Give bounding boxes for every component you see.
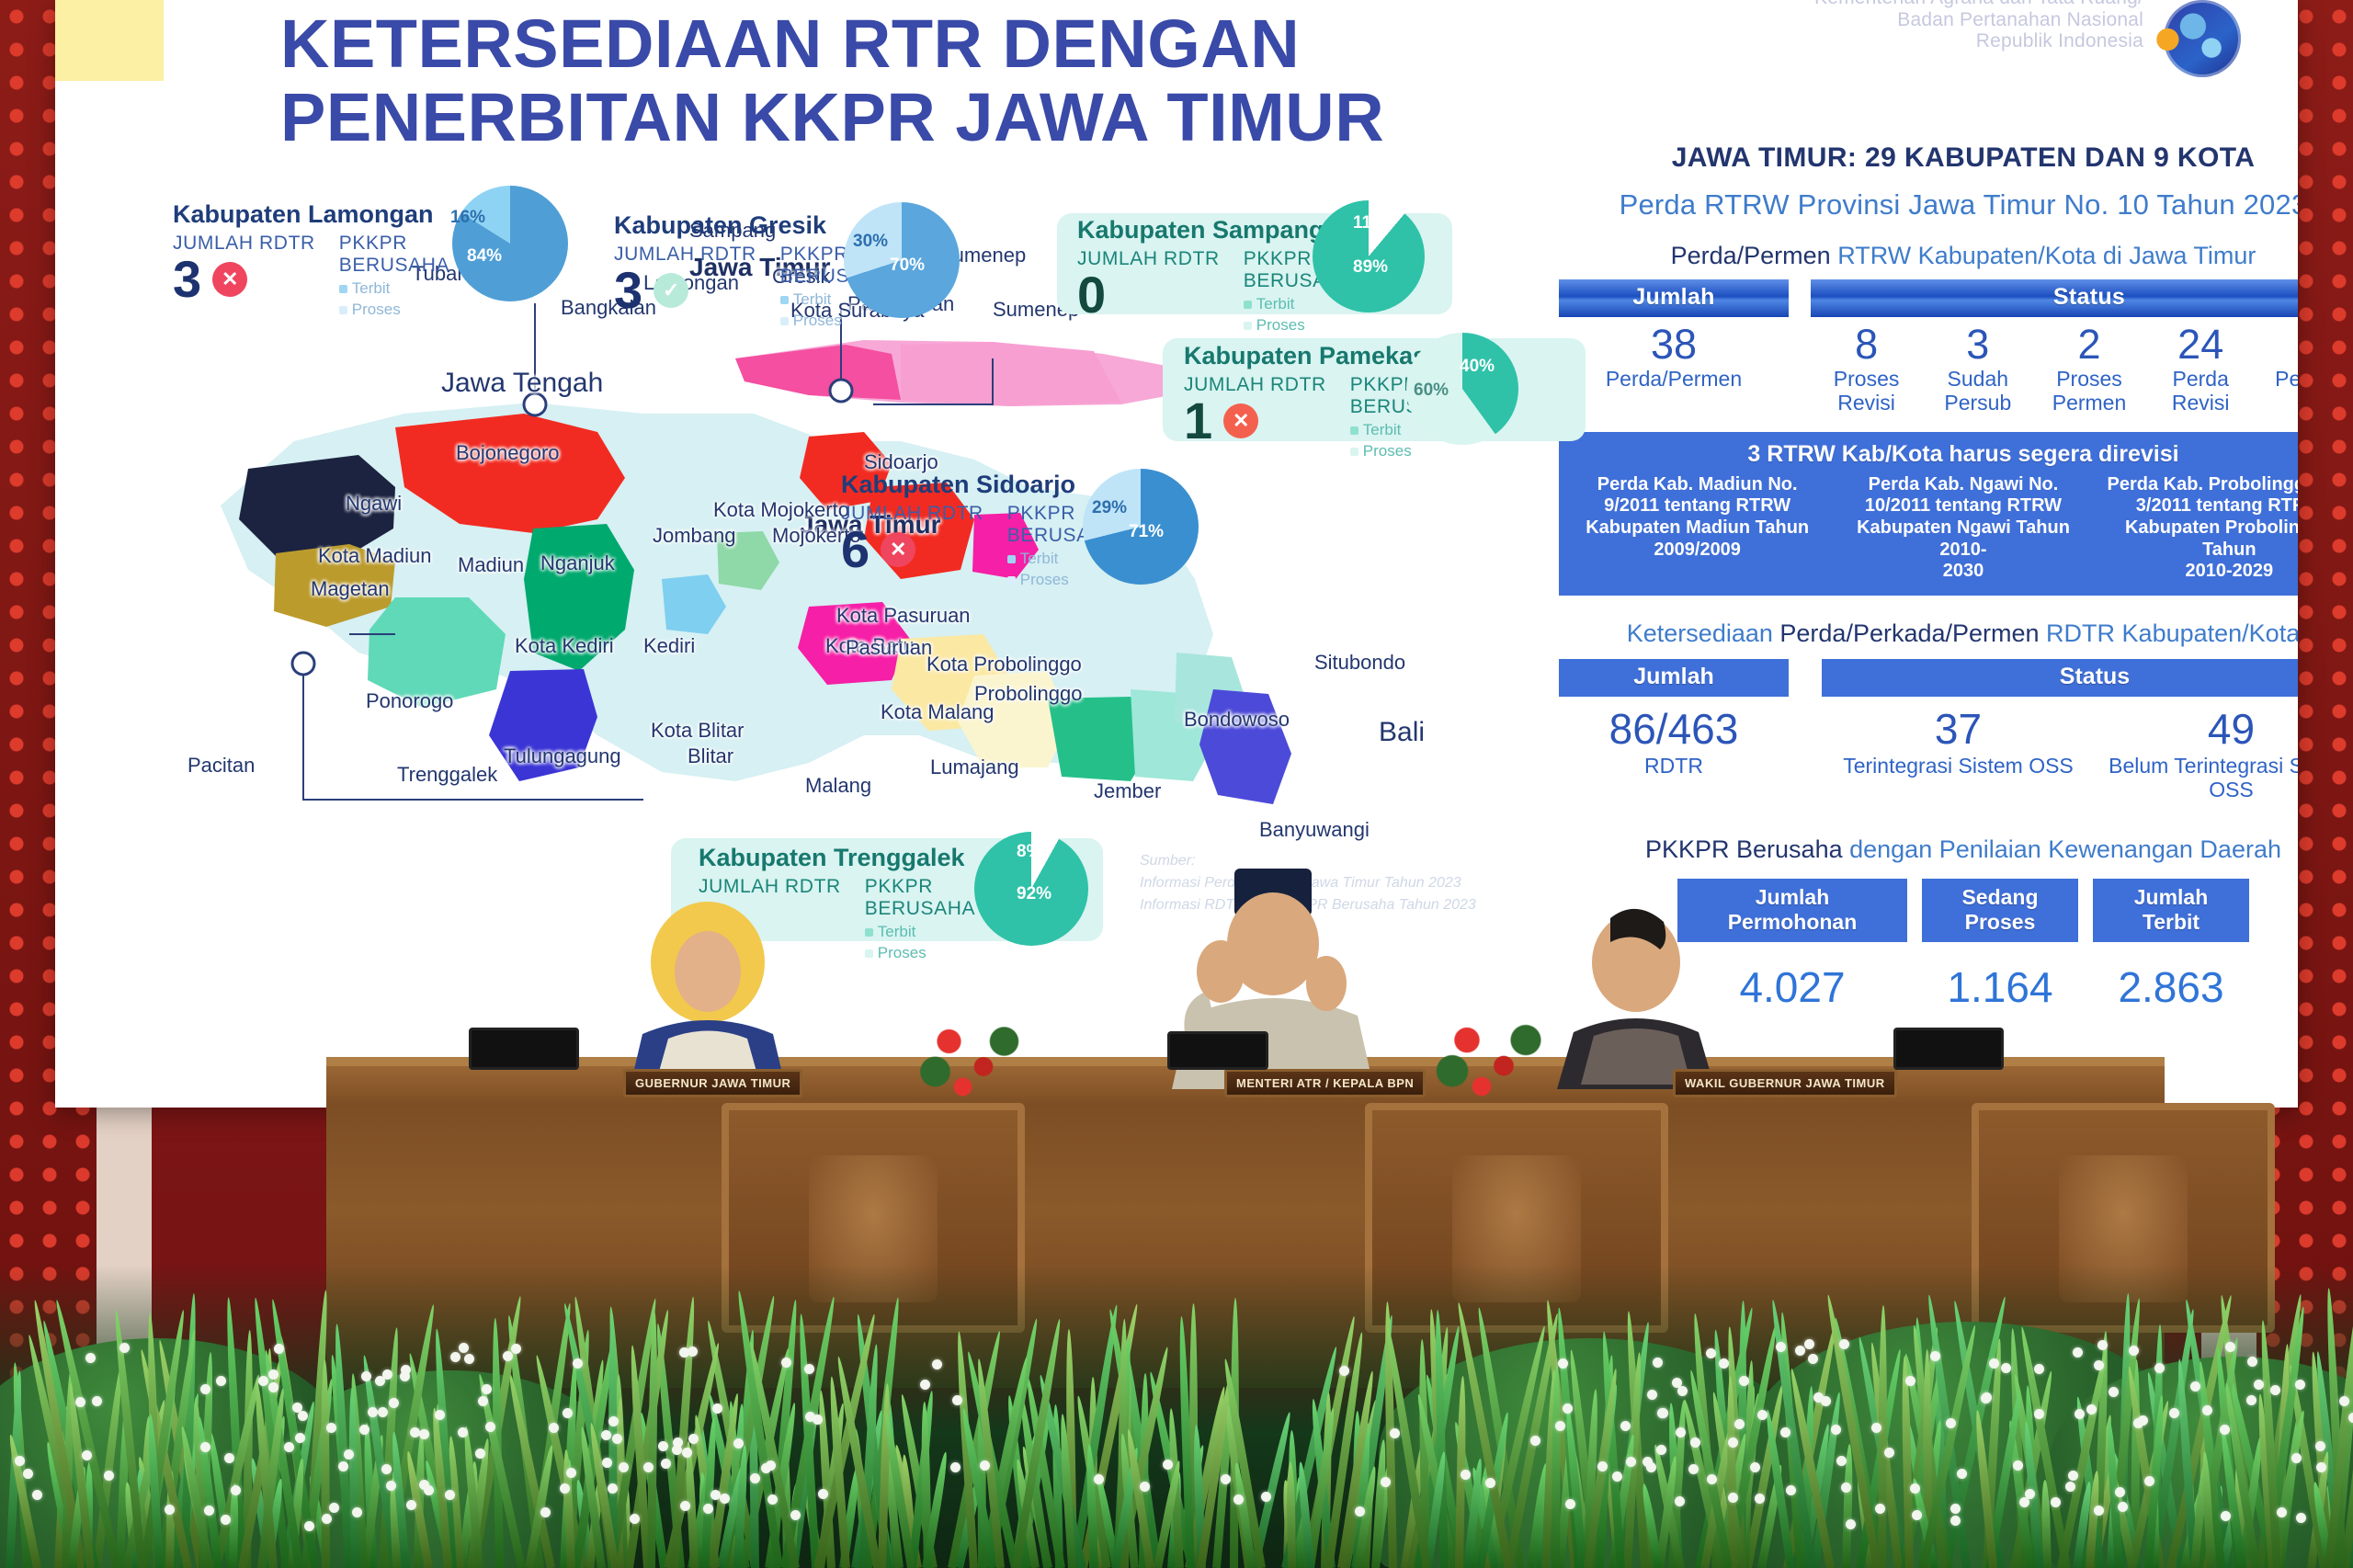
blossom [805,1412,815,1422]
revision-item-line3: Kabupaten Madiun Tahun [1586,517,1809,538]
revision-items: Perda Kab. Madiun No. 9/2011 tentang RTR… [1572,474,2298,583]
blossom [2277,1507,2287,1517]
blossom [2144,1476,2154,1486]
revision-item-line1: Perda Kab. Madiun No. [1597,474,1798,494]
statistics-panel: JAWA TIMUR: 29 KABUPATEN DAN 9 KOTA Perd… [1559,142,2298,1012]
rdtr-status-value: 49 [2095,704,2298,754]
blossom [368,1407,378,1417]
map-label-magetan: Magetan [311,577,390,601]
blossom [818,1489,828,1499]
blossom [1690,1437,1700,1448]
rtrw-status-item: 8 Proses Revisi [1811,323,1922,415]
legend-terbit: Terbit [793,290,832,308]
revision-item: Perda Kab. Probolinggo No. 3/2011 tentan… [2104,474,2298,583]
blossom [2097,1340,2108,1350]
blossom [1786,1485,1796,1495]
perda-rtrw-provinsi: Perda RTRW Provinsi Jawa Timur No. 10 Ta… [1559,188,2298,222]
blossom [1656,1445,1666,1455]
blossom [274,1344,284,1354]
blossom [424,1485,434,1495]
nameplate-menteri: MENTERI ATR / KEPALA BPN [1224,1069,1426,1097]
revision-item-line2: 10/2011 tentang RTRW [1865,495,2062,516]
legend-terbit: Terbit [1020,550,1059,567]
revision-item-line4: 2030 [1943,561,1984,581]
blossom [766,1460,776,1471]
blossom [322,1514,332,1524]
map-label-tulungagung: Tulungagung [504,744,621,768]
map-label-lumajang: Lumajang [930,756,1019,779]
blossom [1946,1418,1956,1428]
blossom [1677,1386,1688,1396]
blossom [658,1441,668,1451]
blossom [1563,1403,1573,1414]
map-label-kediri: Kediri [643,634,695,658]
pie-label-terbit-lamongan: 84% [467,246,502,267]
card-pkkpr-label-1: PKKPR [339,233,449,255]
blossom [672,1445,682,1455]
blossom [1261,1492,1271,1502]
blossom [304,1521,314,1531]
rdtr-status-value: 37 [1822,704,2095,754]
blossom [2094,1360,2104,1370]
header-status-rtrw: Status [1811,279,2298,317]
card-rdtr-value: 6 [841,525,870,574]
legend-proses: Proses [1363,442,1412,460]
map-label-trenggalek: Trenggalek [397,763,497,787]
rdtr-values-row: 86/463 RDTR 37 Terintegrasi Sistem OSS 4… [1559,704,2298,802]
card-title: Kabupaten Trenggalek [699,844,975,872]
rtrw-status-cells: 8 Proses Revisi 3 Sudah Persub 2 Proses … [1811,323,2298,415]
blossom [1734,1419,1745,1429]
card-body: JUMLAH RDTR 3 ✕ PKKPR BERUSAHA Terbit Pr… [173,233,449,321]
blossom [1094,1474,1104,1484]
blossom [2034,1364,2044,1374]
legend-terbit: Terbit [1363,421,1402,438]
section-rdtr-title: Ketersediaan Perda/Perkada/Permen RDTR K… [1559,619,2298,648]
blossom [450,1352,460,1362]
blossom [1739,1376,1749,1386]
rtrw-status-value: 24 [2145,323,2256,366]
blossom [2291,1453,2302,1463]
blossom [2254,1380,2264,1390]
rtrw-status-label: Proses Revisi [1811,368,1922,415]
blossom [1565,1499,1575,1509]
blossom [284,1442,294,1452]
rtrw-status-value: 1 [2256,323,2298,366]
map-label-malang: Malang [805,774,871,798]
rtrw-status-label: Permen [2256,368,2298,392]
map-label-ngawi: Ngawi [346,492,402,516]
pie-label-terbit-pamekasan: 40% [1460,357,1495,377]
blossom [338,1461,348,1471]
pie-label-terbit-trenggalek: 92% [1017,884,1051,904]
pie-label-proses-lamongan: 16% [450,208,485,228]
blossom [23,1469,33,1479]
blossom [231,1485,241,1495]
blossom [378,1407,388,1417]
map-label-jember: Jember [1094,779,1161,803]
person-governor [602,896,813,1089]
rtrw-status-item: 1 Permen [2256,323,2298,415]
blossom [32,1490,42,1500]
blossom [2348,1413,2353,1423]
map-label-blitar: Blitar [688,744,733,768]
section-pkkpr-title-a: PKKPR Berusaha [1645,835,1849,863]
card-rdtr-value: 0 [1077,270,1106,319]
blossom [419,1429,429,1439]
revision-item-line1: Perda Kab. Probolinggo No. [2108,474,2298,494]
rtrw-table-headers: Jumlah Status [1559,279,2298,317]
blossom [1846,1519,1856,1529]
blossom [712,1403,722,1414]
blossom [1950,1516,1961,1526]
pie-label-proses-pamekasan: 60% [1414,381,1449,401]
map-label-madiun: Madiun [458,553,524,577]
blossom [475,1449,485,1459]
blossom [1871,1423,1881,1433]
blossom [344,1449,354,1460]
blossom [1910,1483,1920,1494]
card-rdtr-block: JUMLAH RDTR 3 ✕ [173,233,315,303]
flower-arrangement-right [1415,1009,1563,1112]
blossom [1390,1428,1400,1438]
blossom [952,1395,962,1405]
ministry-line-1: Kementerian Agraria dan Tata Ruang/ [1814,0,2143,8]
blossom [359,1425,369,1435]
section-rdtr-title-a: Ketersediaan [1627,619,1780,647]
title-line-1: KETERSEDIAAN RTR DENGAN [280,7,1384,81]
blossom [661,1459,671,1469]
revision-item-line3: Kabupaten Probolinggo Tahun [2125,517,2298,560]
blossom [1804,1339,1814,1349]
desk-monitor-left [469,1028,579,1070]
blossom [1930,1351,1940,1361]
blossom [1841,1483,1851,1493]
blossom [1808,1354,1818,1364]
blossom [703,1504,713,1514]
card-title: Kabupaten Sidoarjo [841,471,1118,499]
blossom [2013,1460,2023,1471]
section-rtrw-title-b: RTRW Kabupaten/Kota di Jawa Timur [1837,242,2256,269]
blossom [382,1369,392,1380]
card-kabupaten-sampang: Kabupaten Sampang JUMLAH RDTR 0 PKKPR BE… [1077,216,1354,336]
pie-label-terbit-sampang: 89% [1353,257,1388,278]
rtrw-status-item: 3 Sudah Persub [1922,323,2033,415]
blossom [1795,1346,1805,1356]
blossom [563,1408,573,1418]
card-pie-legend: Terbit Proses [865,922,975,964]
legend-terbit: Terbit [878,923,916,940]
blossom [361,1371,371,1381]
blossom [2073,1347,2083,1358]
rtrw-status-label: Perda Revisi [2145,368,2256,415]
blossom [733,1438,744,1449]
blossom [608,1416,619,1426]
rtrw-status-value: 2 [2033,323,2144,366]
map-label-kota-mojokerto: Kota Mojokerto [713,498,849,522]
revision-item-line2: 3/2011 tentang RTRW [2136,495,2298,516]
section-rdtr-title-c: RDTR Kabupaten/Kota [2040,619,2298,647]
blossom [1750,1462,1760,1472]
blossom [295,1433,305,1443]
map-label-kota-madiun: Kota Madiun [318,544,432,568]
blossom [688,1434,699,1444]
blossom [720,1494,730,1504]
revision-item-line3: Kabupaten Ngawi Tahun 2010- [1857,517,2070,560]
blossom [2129,1346,2139,1356]
blossom [612,1434,622,1444]
blossom [1706,1348,1716,1358]
blossom [2169,1408,2179,1418]
revision-item-line4: 2009/2009 [1654,540,1741,560]
blossom [2001,1363,2011,1373]
blossom [1612,1471,1622,1482]
blossom [1688,1464,1699,1474]
x-circle-icon: ✕ [212,262,247,297]
legend-proses: Proses [878,944,926,961]
revision-box-title: 3 RTRW Kab/Kota harus segera direvisi [1572,441,2298,468]
blossom [630,1514,640,1524]
revision-item: Perda Kab. Madiun No. 9/2011 tentang RTR… [1572,474,1823,583]
blossom [932,1359,942,1369]
blossom [2315,1441,2325,1451]
blossom [2246,1395,2256,1405]
blossom [920,1380,930,1390]
blossom [1755,1494,1765,1504]
section-rtrw-title: Perda/Permen RTRW Kabupaten/Kota di Jawa… [1559,242,2298,270]
blossom [221,1515,231,1525]
check-circle-icon: ✓ [654,273,688,308]
blossom [329,1503,339,1513]
blossom [511,1344,521,1354]
blossom [1221,1474,1231,1484]
pie-label-terbit-gresik: 70% [890,256,925,276]
blossom [1672,1378,1682,1388]
blossom [326,1423,336,1433]
blossom [1676,1427,1686,1437]
card-rdtr-value-wrap: 1 ✕ [1184,396,1326,445]
blossom [464,1354,474,1364]
title-line-2: PENERBITAN KKPR JAWA TIMUR [280,81,1384,154]
card-pkkpr-label-2: BERUSAHA [865,898,975,920]
blossom [1461,1470,1471,1480]
blossom [258,1376,268,1386]
blossom [1163,1460,1173,1470]
blossom [2339,1396,2349,1406]
blossom [401,1365,411,1375]
blossom [204,1506,214,1516]
blossom [549,1423,559,1433]
map-label-pasuruan: Pasuruan [846,636,932,660]
card-pkkpr-label-2: BERUSAHA [339,255,449,277]
card-rdtr-value-wrap: 0 [1077,270,1220,319]
blossom [459,1343,469,1353]
yellow-accent-block [55,0,164,81]
map-label-probolinggo: Probolinggo [974,682,1082,706]
blossom [82,1450,92,1460]
pie-label-proses-sampang: 11% [1353,213,1387,233]
blossom [2118,1502,2128,1512]
x-circle-icon: ✕ [1223,403,1258,438]
blossom [1485,1478,1495,1488]
rdtr-status-label: Terintegrasi Sistem OSS [1822,754,2095,778]
map-label-kota-pasuruan: Kota Pasuruan [836,604,971,628]
card-body: JUMLAH RDTR 6 ✕ PKKPR BERUSAHA Terbit Pr… [841,503,1118,591]
map-label-kota-probolinggo: Kota Probolinggo [926,653,1082,676]
blossom [2051,1497,2061,1507]
blossom [980,1460,990,1471]
flower-arrangement-left [901,1011,1039,1112]
map-label-ponorogo: Ponorogo [366,689,453,713]
blossom [406,1500,416,1510]
blossom [2247,1357,2257,1367]
map-label-bondowoso: Bondowoso [1184,708,1290,732]
blossom [1381,1477,1391,1487]
blossom [1757,1410,1768,1420]
blossom [1646,1462,1656,1472]
blossom [298,1411,308,1421]
rdtr-status-item: 37 Terintegrasi Sistem OSS [1822,704,2095,802]
blossom [1776,1342,1786,1352]
blossom [485,1422,495,1432]
legend-terbit: Terbit [1256,295,1295,312]
revision-item: Perda Kab. Ngawi No. 10/2011 tentang RTR… [1837,474,2088,583]
grass-blade [1878,1305,1887,1568]
header-status-rdtr: Status [1822,659,2298,697]
ministry-header: Kementerian Agraria dan Tata Ruang/ Bada… [1814,0,2143,52]
blossom [119,1343,130,1353]
rtrw-status-item: 24 Perda Revisi [2145,323,2256,415]
card-rdtr-value: 3 [173,255,201,303]
blossom [216,1376,226,1386]
blossom [750,1473,760,1483]
card-rdtr-block: JUMLAH RDTR 3 ✓ [614,244,756,314]
card-rdtr-value-wrap: 3 ✓ [614,266,756,314]
grass-blade [1552,1366,1561,1568]
blossom [573,1358,583,1369]
revision-item-line2: 9/2011 tentang RTRW [1604,495,1790,516]
blossom [1957,1469,1967,1479]
legend-proses: Proses [352,301,401,318]
blossom [2221,1511,2231,1521]
map-label-jombang: Jombang [653,524,736,548]
map-label-bojonegoro: Bojonegoro [456,441,560,465]
pie-chart-lamongan [452,186,568,301]
blossom [352,1507,362,1517]
revision-item-line1: Perda Kab. Ngawi No. [1869,474,2059,494]
pie-label-proses-trenggalek: 8% [1017,842,1041,862]
blossom [2202,1405,2212,1415]
blossom [1831,1425,1841,1435]
rtrw-status-value: 3 [1922,323,2033,366]
blossom [1989,1358,1999,1369]
blossom [75,1397,85,1407]
blossom [200,1442,210,1452]
blossom [2068,1471,2078,1481]
map-label-kota-kediri: Kota Kediri [515,634,614,658]
blossom [1140,1482,1150,1492]
blossom [15,1456,25,1466]
blossom [1728,1493,1738,1503]
rdtr-table-headers: Jumlah Status [1559,659,2298,697]
card-rdtr-block: JUMLAH RDTR 1 ✕ [1184,374,1326,445]
card-pkkpr-block: PKKPR BERUSAHA Terbit Proses [865,876,975,964]
blossom [1981,1393,1991,1403]
foreground-plants [0,1265,2353,1568]
blossom [643,1462,654,1472]
card-rdtr-block: JUMLAH RDTR 6 ✕ [841,503,983,574]
blossom [200,1384,210,1394]
blossom [386,1481,396,1491]
blossom [2019,1497,2029,1507]
ministry-line-3: Republik Indonesia [1976,30,2143,51]
blossom [1558,1358,1568,1369]
blossom [2133,1418,2143,1428]
card-rdtr-value-wrap: 6 ✕ [841,525,983,574]
legend-proses: Proses [793,312,842,329]
blossom [1653,1358,1663,1368]
map-label-pacitan: Pacitan [188,754,255,778]
blossom [1905,1376,1915,1386]
x-circle-icon: ✕ [881,532,915,567]
blossom [2296,1513,2306,1523]
blossom [1780,1427,1790,1437]
blossom [1620,1421,1631,1431]
desk-monitor-right [1893,1028,2004,1070]
rtrw-values-row: 38 Perda/Permen 8 Proses Revisi 3 Sudah … [1559,323,2298,415]
card-rdtr-block: JUMLAH RDTR 0 [1077,248,1220,319]
blossom [2075,1409,2085,1419]
blossom [601,1430,611,1440]
blossom [608,1483,618,1494]
blossom [804,1364,814,1374]
blossom [2270,1385,2280,1395]
map-label-situbondo: Situbondo [1314,651,1405,675]
nameplate-wakil-gubernur: WAKIL GUBERNUR JAWA TIMUR [1673,1069,1897,1097]
blossom [790,1510,801,1520]
blossom [602,1458,612,1468]
section-rdtr-title-b: Perda/Perkada/Permen [1779,619,2039,647]
blossom [2115,1487,2125,1497]
rdtr-status-cells: 37 Terintegrasi Sistem OSS 49 Belum Teri… [1822,704,2298,802]
blossom [1912,1510,1922,1520]
card-pkkpr-label-1: PKKPR [865,876,975,898]
blossom [1707,1474,1717,1484]
blossom [1728,1437,1738,1448]
pkkpr-value-jumlah-terbit: 2.863 [2093,962,2249,1012]
map-label-banyuwangi: Banyuwangi [1259,818,1370,842]
blossom [458,1427,468,1437]
blossom [1813,1392,1824,1403]
blossom [540,1507,551,1517]
blossom [389,1398,399,1408]
map-label-bali: Bali [1379,717,1425,748]
ministry-line-2: Badan Pertanahan Nasional [1897,9,2143,30]
pkkpr-header-jumlah-terbit: Jumlah Terbit [2093,879,2249,942]
card-rdtr-value: 1 [1184,396,1212,445]
rdtr-status-item: 49 Belum Terintegrasi Sistem OSS [2095,704,2298,802]
blossom [682,1448,692,1458]
blossom [2225,1342,2235,1352]
blossom [2220,1425,2230,1435]
blossom [381,1464,392,1474]
revision-item-line4: 2010-2029 [2185,561,2273,581]
rdtr-status-label: Belum Terintegrasi Sistem OSS [2095,754,2298,802]
card-rdtr-value-wrap: 3 ✕ [173,255,315,303]
blossom [2190,1381,2200,1392]
card-title: Kabupaten Sampang [1077,216,1354,244]
blossom [1836,1456,1847,1466]
